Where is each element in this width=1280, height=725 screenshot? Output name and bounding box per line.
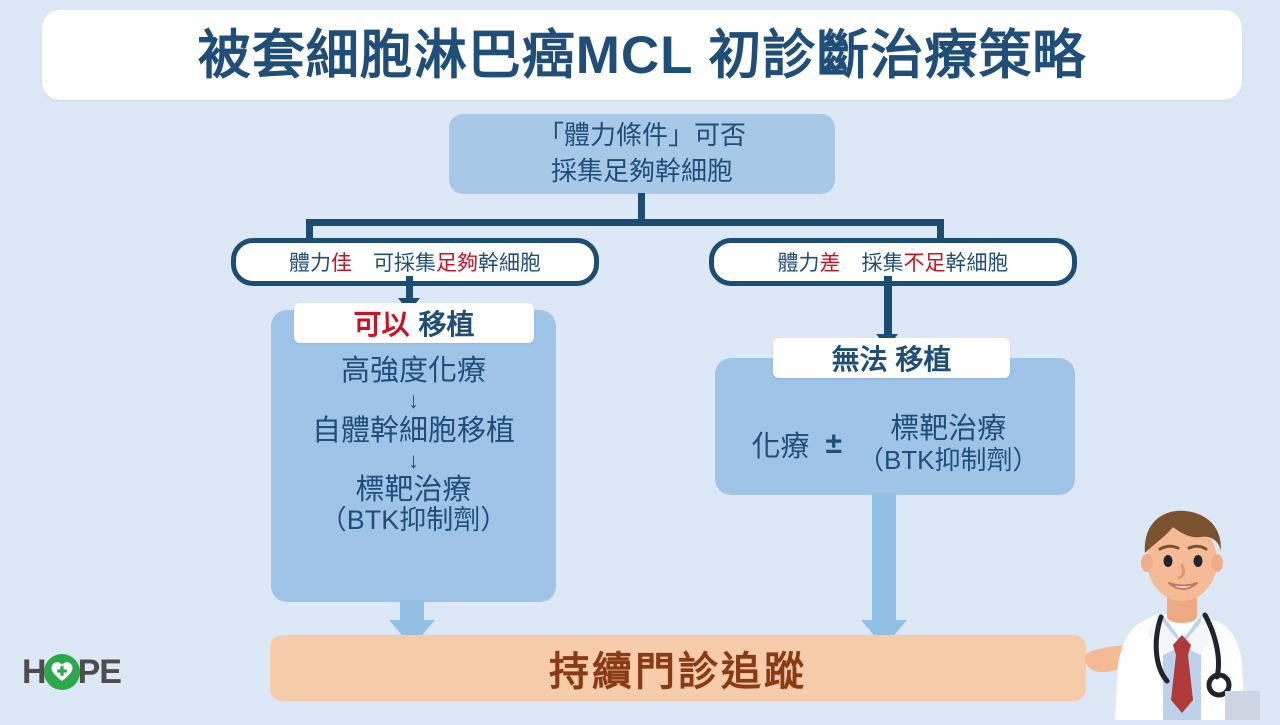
decision-line-2: 採集足夠幹細胞 [551,154,733,190]
treatment-steps-right: 化療 ± 標靶治療 （BTK抑制劑） [715,398,1075,490]
outcome-bar-followup: 持續門診追蹤 [270,635,1086,701]
treatment-step-1: 高強度化療 [271,355,556,387]
outcome-arrow-shaft-left [400,600,424,622]
branch-right-highlight-2: 不足 [904,247,946,277]
step-arrow-2-icon: ↓ [271,449,556,472]
treatment-step-3-sub: （BTK抑制劑） [271,505,556,535]
treatment-operator: ± [825,427,841,461]
decision-node-performance-status: 「體力條件」可否 採集足夠幹細胞 [449,114,835,194]
branch-left-text-2: 可採集 [352,247,436,277]
treatment-step-3: 標靶治療 [271,474,556,506]
branch-right-text-2: 採集 [841,247,904,277]
heart-cross-icon [44,654,80,690]
outcome-arrow-shaft-right [872,493,896,622]
branch-left-text-1: 體力 [289,247,331,277]
branch-left-highlight-2: 足夠 [436,247,478,277]
treatment-target-group: 標靶治療 （BTK抑制劑） [858,414,1039,474]
logo-text-left: H [22,655,46,689]
branch-right-highlight-1: 差 [820,247,841,277]
decision-line-1: 「體力條件」可否 [538,118,746,154]
step-arrow-1-icon: ↓ [271,389,556,412]
branch-pill-fit: 體力佳 可採集足夠幹細胞 [231,238,599,286]
flowchart-canvas: 被套細胞淋巴癌MCL 初診斷治療策略 「體力條件」可否 採集足夠幹細胞 體力佳 … [0,0,1280,720]
treatment-target: 標靶治療 [890,414,1006,446]
logo-text-right: PE [78,655,121,689]
branch-pill-unfit: 體力差 採集不足幹細胞 [709,238,1077,286]
panel-label-transplant-eligible: 可以移植 [294,303,534,343]
arrow-shaft-right [884,276,892,336]
connector-horizontal-split [306,219,944,226]
branch-left-highlight-1: 佳 [331,247,352,277]
doctor-illustration [1085,495,1280,720]
page-title: 被套細胞淋巴癌MCL 初診斷治療策略 [198,29,1087,82]
title-banner: 被套細胞淋巴癌MCL 初診斷治療策略 [42,10,1242,100]
treatment-steps-left: 高強度化療 ↓ 自體幹細胞移植 ↓ 標靶治療 （BTK抑制劑） [271,355,556,535]
arrow-shaft-left [406,276,413,300]
branch-right-text-3: 幹細胞 [946,247,1009,277]
branch-left-text-3: 幹細胞 [478,247,541,277]
outcome-label: 持續門診追蹤 [549,639,807,697]
hope-logo: H PE [22,652,121,692]
branch-right-text-1: 體力 [778,247,820,277]
treatment-step-2: 自體幹細胞移植 [271,415,556,447]
panel-left-label-rest: 移植 [419,303,475,343]
treatment-target-sub: （BTK抑制劑） [858,446,1039,475]
panel-label-transplant-ineligible: 無法 移植 [773,338,1010,378]
treatment-chemo: 化療 [751,423,809,465]
panel-left-label-highlight: 可以 [353,303,409,343]
